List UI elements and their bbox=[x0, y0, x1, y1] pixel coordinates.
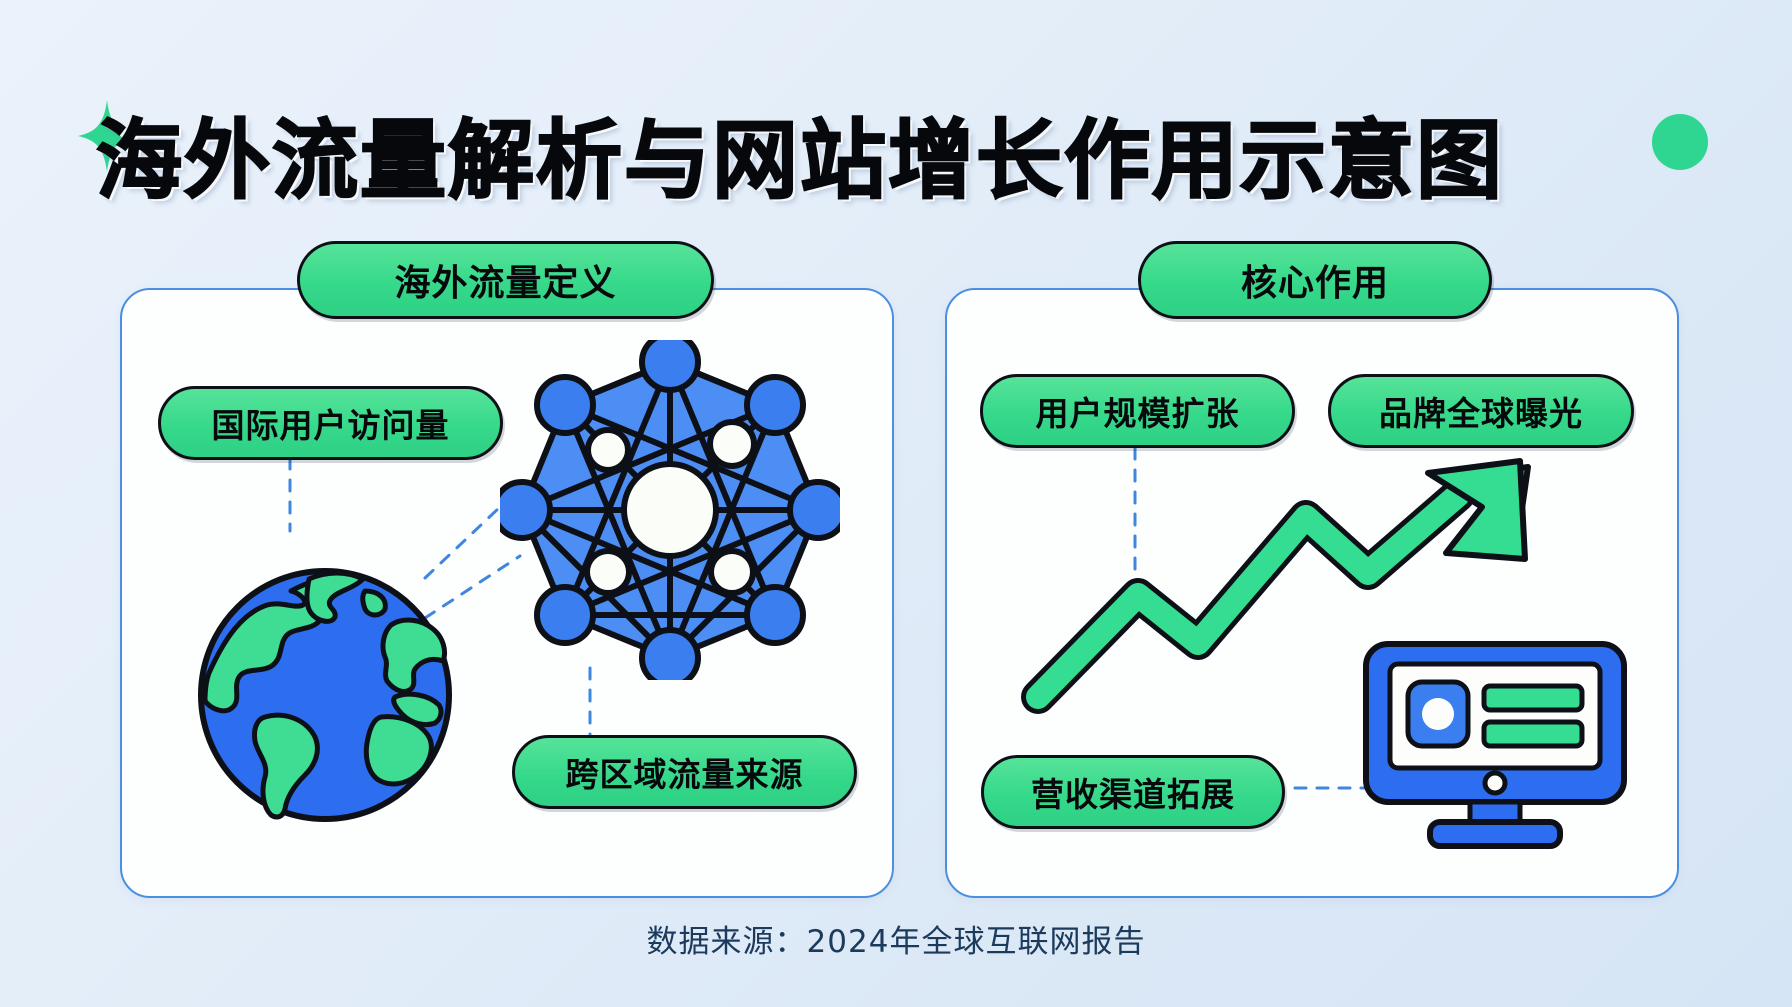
globe-illustration bbox=[195, 565, 455, 825]
header-row: 海外流量解析与网站增长作用示意图 bbox=[0, 52, 1792, 192]
infographic-canvas: 海外流量解析与网站增长作用示意图 bbox=[0, 0, 1792, 1007]
network-graph-illustration bbox=[500, 340, 840, 680]
label-cross-region-traffic-source[interactable]: 跨区域流量来源 bbox=[512, 735, 857, 809]
label-user-scale-expansion[interactable]: 用户规模扩张 bbox=[980, 374, 1295, 448]
label-international-user-visits[interactable]: 国际用户访问量 bbox=[158, 386, 503, 460]
label-brand-global-exposure[interactable]: 品牌全球曝光 bbox=[1328, 374, 1634, 448]
section-heading-core-effects[interactable]: 核心作用 bbox=[1138, 241, 1492, 319]
website-monitor-illustration bbox=[1360, 640, 1630, 850]
page-title: 海外流量解析与网站增长作用示意图 bbox=[96, 118, 1504, 204]
label-revenue-channel-expansion[interactable]: 营收渠道拓展 bbox=[981, 755, 1285, 829]
section-heading-overseas-traffic-definition[interactable]: 海外流量定义 bbox=[297, 241, 714, 319]
data-source-footnote: 数据来源：2024年全球互联网报告 bbox=[0, 916, 1792, 961]
green-circle-decoration bbox=[1652, 114, 1708, 170]
